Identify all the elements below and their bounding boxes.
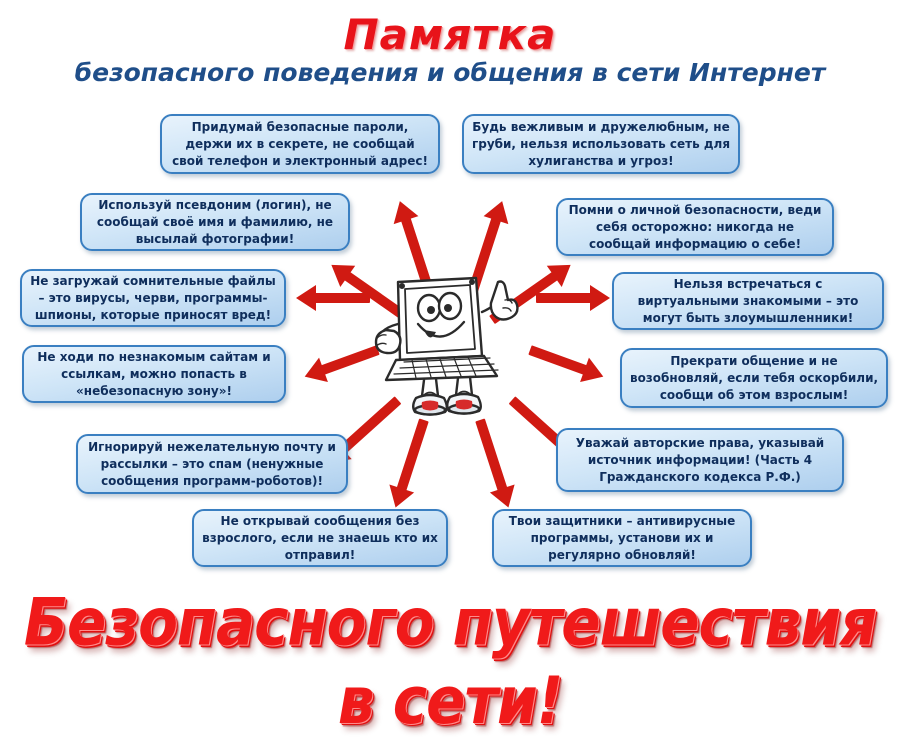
tip-box-copyright[interactable]: Уважай авторские права, указывай источни… xyxy=(556,428,844,492)
tip-box-unknown-sites[interactable]: Не ходи по незнакомым сайтам и ссылкам, … xyxy=(22,345,286,403)
tip-box-dont-open-messages[interactable]: Не открывай сообщения без взрослого, есл… xyxy=(192,509,448,567)
tip-text: Используй псевдоним (логин), не сообщай … xyxy=(89,197,341,248)
tip-text: Не загружай сомнительные файлы – это вир… xyxy=(29,273,277,324)
tip-text: Придумай безопасные пароли, держи их в с… xyxy=(169,119,431,170)
safety-poster: Памятка безопасного поведения и общения … xyxy=(0,0,900,675)
tip-text: Не ходи по незнакомым сайтам и ссылкам, … xyxy=(31,349,277,400)
tip-box-ignore-spam[interactable]: Игнорируй нежелательную почту и рассылки… xyxy=(76,434,348,494)
tip-box-passwords[interactable]: Придумай безопасные пароли, держи их в с… xyxy=(160,114,440,174)
tip-text: Твои защитники – антивирусные программы,… xyxy=(501,513,743,564)
tip-box-no-meetings[interactable]: Нельзя встречаться с виртуальными знаком… xyxy=(612,272,884,330)
bottom-banner: Безопасного путешествия в сети! xyxy=(0,583,900,740)
page-subtitle: безопасного поведения и общения в сети И… xyxy=(0,58,900,87)
tip-box-be-polite[interactable]: Будь вежливым и дружелюбным, не груби, н… xyxy=(462,114,740,174)
tip-box-stop-communication[interactable]: Прекрати общение и не возобновляй, если … xyxy=(620,348,888,408)
tip-box-use-nickname[interactable]: Используй псевдоним (логин), не сообщай … xyxy=(80,193,350,251)
tip-box-suspicious-files[interactable]: Не загружай сомнительные файлы – это вир… xyxy=(20,269,286,327)
tip-text: Не открывай сообщения без взрослого, есл… xyxy=(201,513,439,564)
tip-text: Игнорируй нежелательную почту и рассылки… xyxy=(85,439,339,490)
tip-text: Прекрати общение и не возобновляй, если … xyxy=(629,353,879,404)
page-title: Памятка xyxy=(0,10,900,59)
tip-box-antivirus[interactable]: Твои защитники – антивирусные программы,… xyxy=(492,509,752,567)
tip-text: Будь вежливым и дружелюбным, не груби, н… xyxy=(471,119,731,170)
tip-text: Уважай авторские права, указывай источни… xyxy=(565,435,835,486)
laptop-mascot-icon xyxy=(372,272,532,417)
tip-text: Нельзя встречаться с виртуальными знаком… xyxy=(621,276,875,327)
tip-text: Помни о личной безопасности, веди себя о… xyxy=(565,202,825,253)
tip-box-personal-safety[interactable]: Помни о личной безопасности, веди себя о… xyxy=(556,198,834,256)
